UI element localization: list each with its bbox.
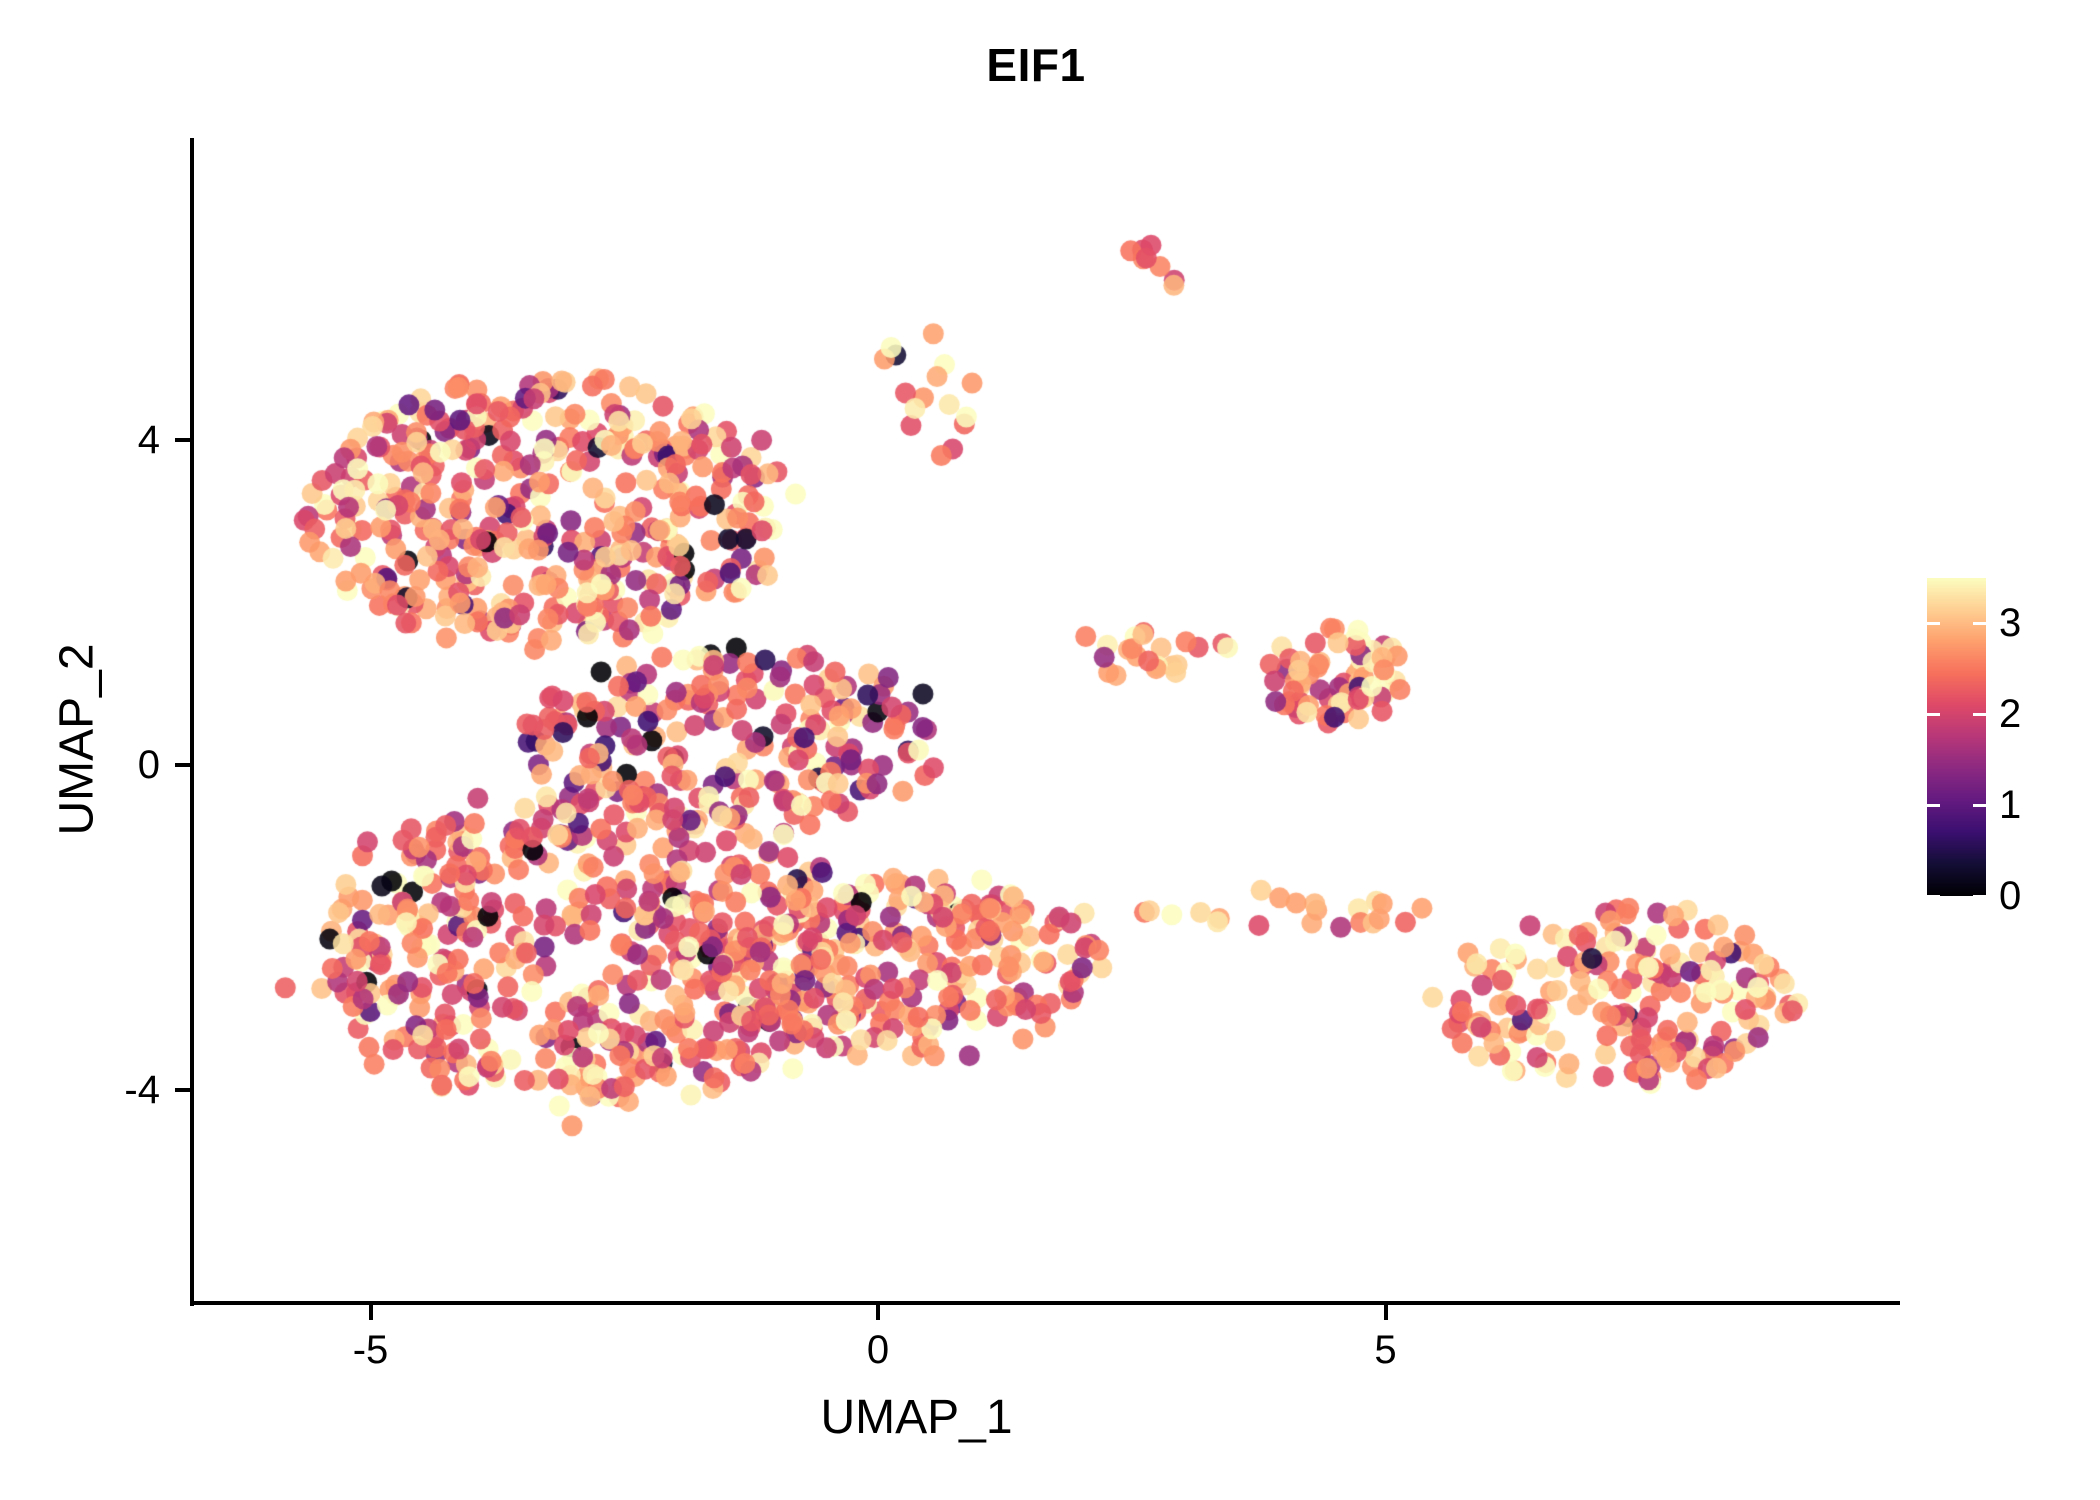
x-tick-mark bbox=[876, 1305, 880, 1320]
y-tick-mark bbox=[175, 1088, 190, 1092]
colorbar-tick-label: 0 bbox=[1999, 876, 2089, 916]
scatter-points-canvas bbox=[193, 138, 1900, 1303]
colorbar-gradient bbox=[1927, 578, 1986, 896]
x-tick-label: 0 bbox=[808, 1328, 948, 1372]
y-axis-line bbox=[190, 138, 194, 1306]
colorbar-tick-mark bbox=[1927, 804, 1940, 807]
plot-panel bbox=[193, 138, 1900, 1303]
colorbar-tick-label: 3 bbox=[1999, 603, 2089, 643]
colorbar-tick-mark bbox=[1927, 713, 1940, 716]
x-tick-label: 5 bbox=[1316, 1328, 1456, 1372]
x-axis-line bbox=[190, 1301, 1900, 1305]
x-tick-mark bbox=[369, 1305, 373, 1320]
colorbar-tick-mark bbox=[1973, 895, 1986, 898]
colorbar-legend: 0123 bbox=[1927, 578, 1986, 896]
plot-title-text: EIF1 bbox=[986, 38, 1085, 92]
x-tick-label: -5 bbox=[301, 1328, 441, 1372]
colorbar-tick-mark bbox=[1927, 895, 1940, 898]
x-tick-mark bbox=[1384, 1305, 1388, 1320]
colorbar-tick-mark bbox=[1973, 622, 1986, 625]
x-axis-title-text: UMAP_1 bbox=[820, 1390, 1012, 1445]
umap-feature-plot: EIF1 -404 -505 UMAP_1 UMAP_2 0123 bbox=[0, 0, 2100, 1500]
x-axis-title: UMAP_1 bbox=[193, 1390, 1900, 1445]
colorbar-tick-label: 2 bbox=[1999, 694, 2089, 734]
y-tick-mark bbox=[175, 438, 190, 442]
colorbar-tick-mark bbox=[1973, 804, 1986, 807]
colorbar-tick-mark bbox=[1927, 622, 1940, 625]
colorbar-tick-mark bbox=[1973, 713, 1986, 716]
y-tick-mark bbox=[175, 763, 190, 767]
colorbar-tick-label: 1 bbox=[1999, 785, 2089, 825]
page-title: EIF1 bbox=[0, 38, 2100, 92]
y-axis-title: UMAP_2 bbox=[50, 340, 105, 1140]
